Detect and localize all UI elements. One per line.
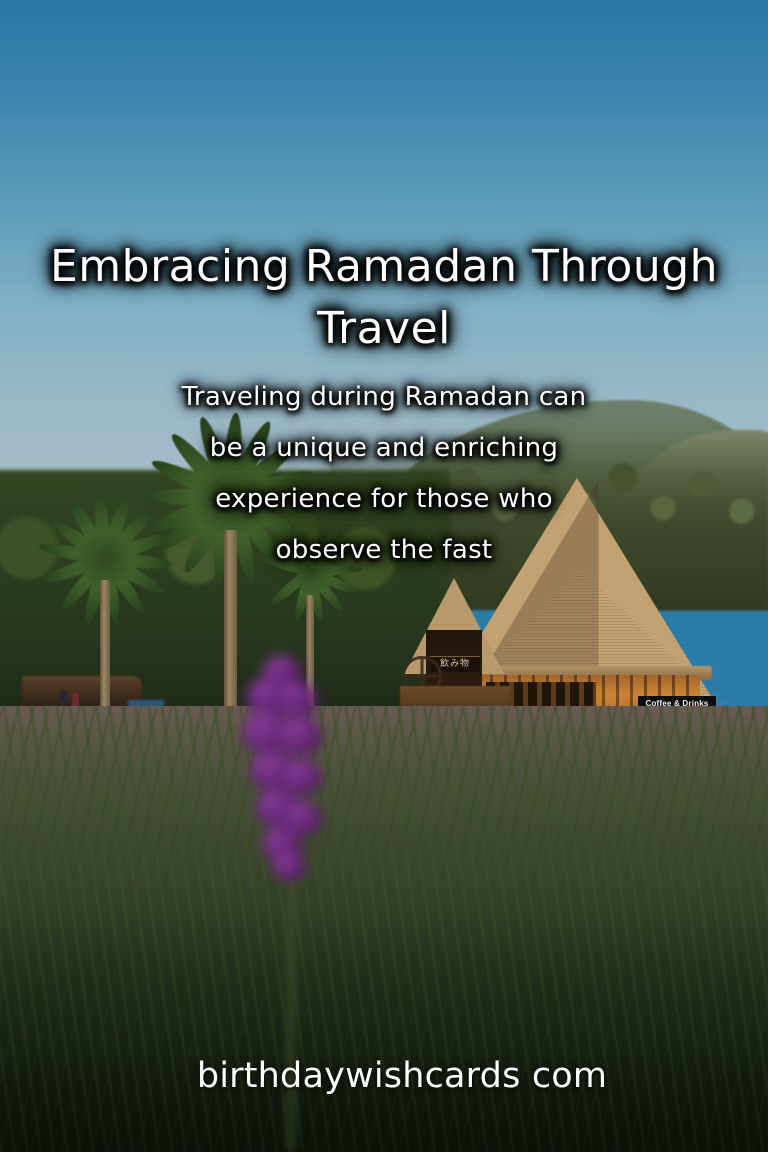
ramadan-travel-card: 飲み物 Coffee & Drinks (0, 0, 768, 1152)
field-vignette (0, 900, 768, 1152)
subtitle: Traveling during Ramadan can be a unique… (0, 372, 768, 576)
subtitle-line: Traveling during Ramadan can (120, 372, 648, 423)
subtitle-line: be a unique and enriching (120, 423, 648, 474)
foreground-purple-flower (232, 655, 342, 955)
site-watermark: birthdaywishcards com (0, 1056, 768, 1096)
text-overlay: Embracing Ramadan Through Travel Traveli… (0, 236, 768, 576)
subtitle-line: observe the fast (120, 525, 648, 576)
subtitle-line: experience for those who (120, 474, 648, 525)
page-title: Embracing Ramadan Through Travel (0, 236, 768, 360)
